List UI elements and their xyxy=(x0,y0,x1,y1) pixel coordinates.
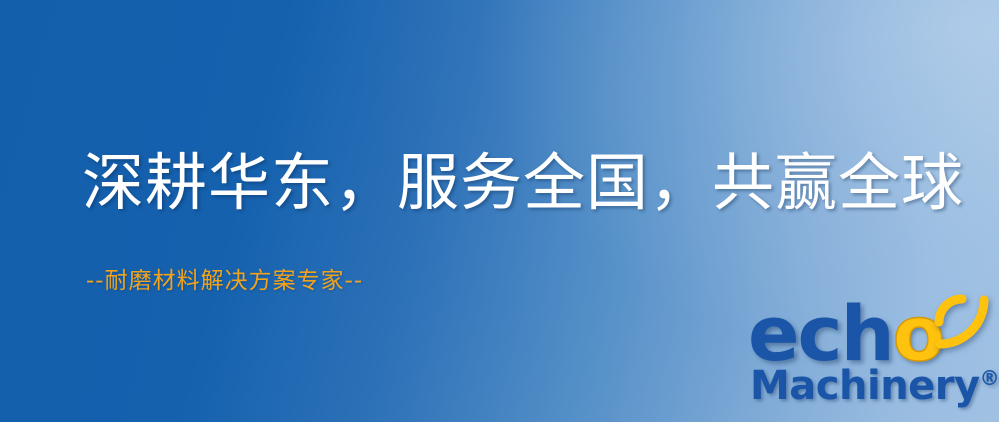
page-subtitle: --耐磨材料解决方案专家-- xyxy=(86,268,363,296)
brand-logo[interactable]: echo Machinery® xyxy=(748,296,999,422)
logo-tagline: Machinery® xyxy=(750,366,999,406)
page-title: 深耕华东，服务全国，共赢全球 xyxy=(82,150,964,215)
logo-tagline-text: Machinery xyxy=(750,363,980,409)
hero-banner: 深耕华东，服务全国，共赢全球 --耐磨材料解决方案专家-- echo Machi… xyxy=(0,0,999,422)
registered-trademark-icon: ® xyxy=(980,366,999,390)
signal-wave-icon xyxy=(934,294,994,356)
logo-wordmark: echo xyxy=(748,296,943,372)
